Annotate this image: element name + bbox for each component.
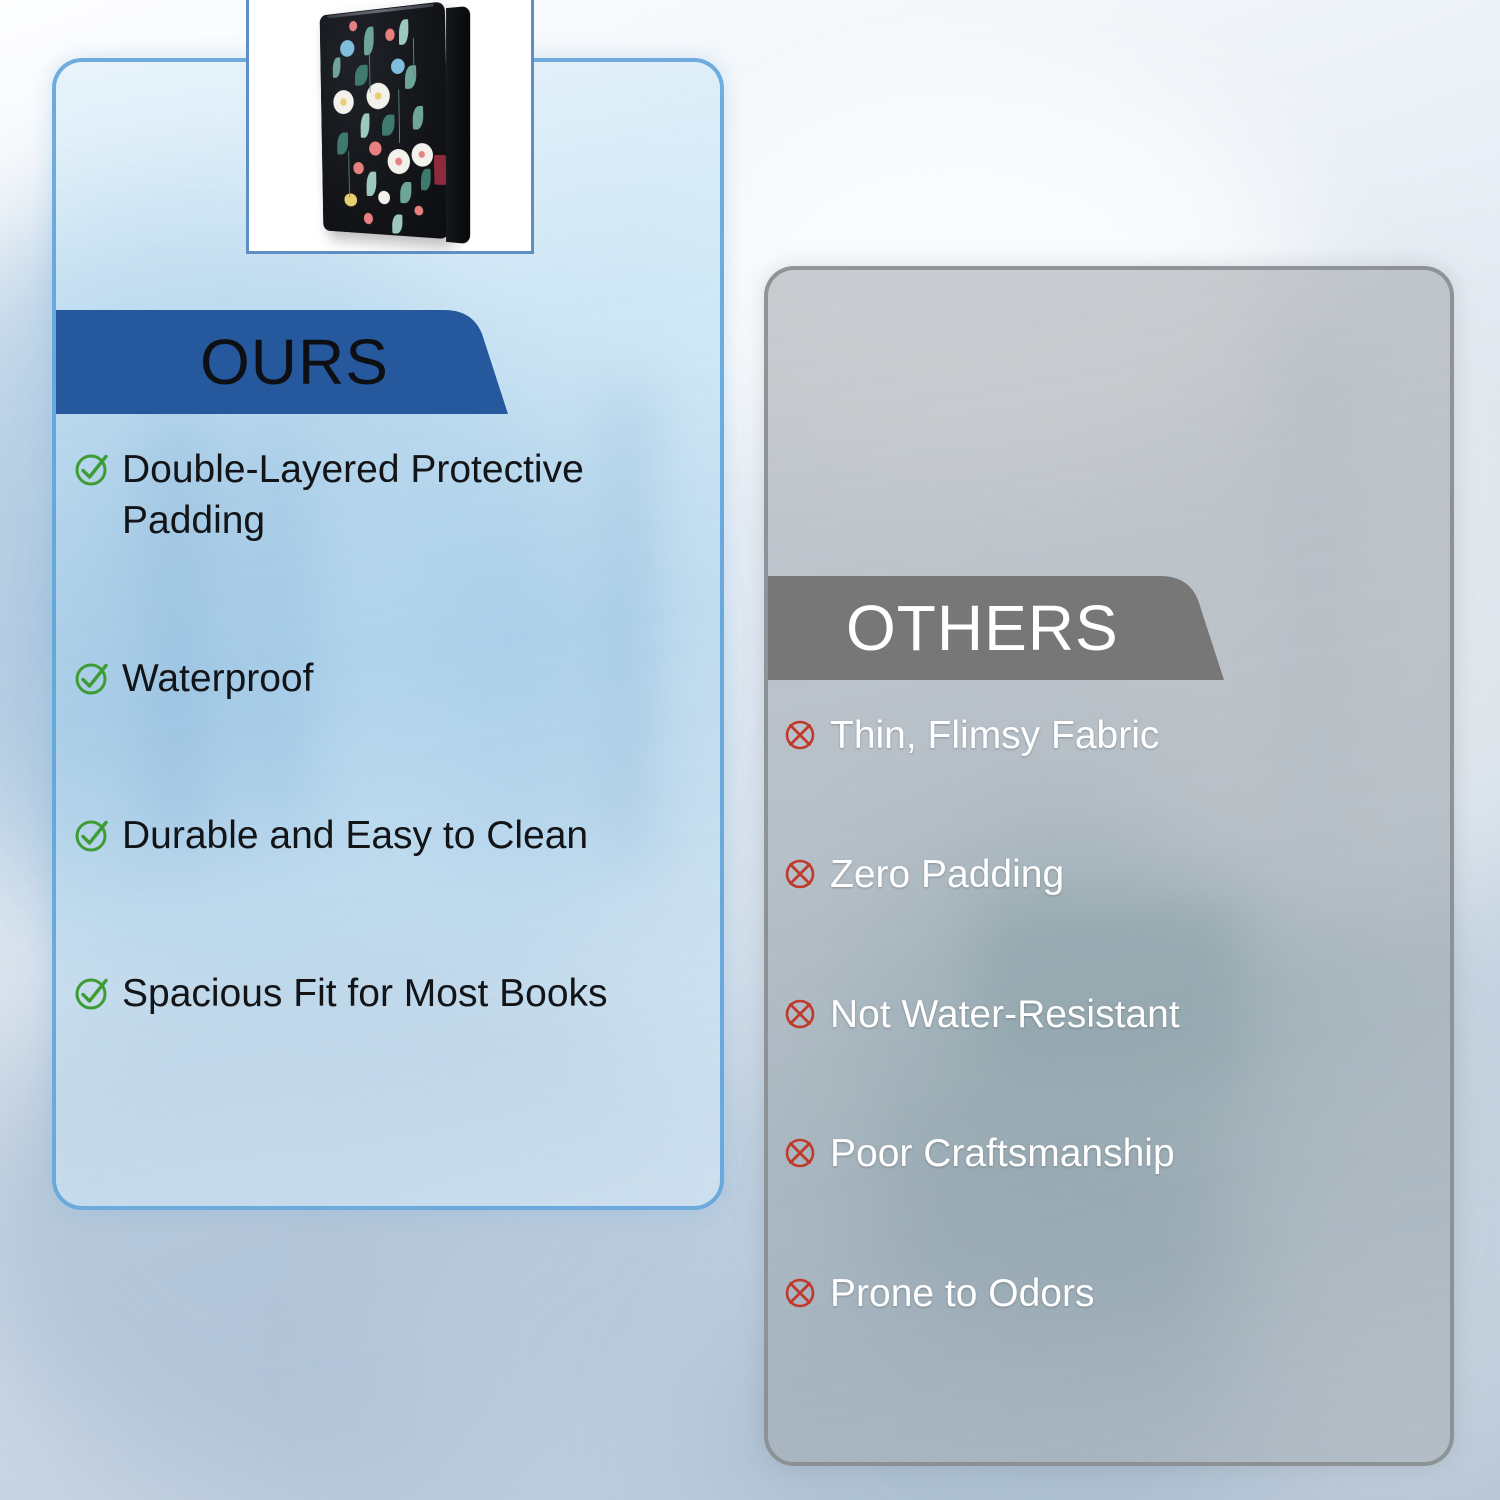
others-card: OTHERS Thin, Flimsy Fabric [764,266,1454,1466]
floral-leaf [400,182,412,204]
check-circle-icon [72,815,112,855]
cross-circle-icon [780,854,820,894]
floral-motif [385,28,395,41]
list-item-label: Thin, Flimsy Fabric [830,710,1159,761]
ours-feature-list: Double-Layered Protective Padding Waterp… [72,444,694,1019]
others-feature-list: Thin, Flimsy Fabric Zero Padding [780,710,1428,1319]
floral-leaf [405,65,417,89]
list-item: Durable and Easy to Clean [72,810,694,861]
list-item: Poor Craftsmanship [780,1128,1428,1179]
floral-leaf [333,57,341,78]
floral-motif [340,39,354,57]
floral-motif [344,193,357,207]
others-title: OTHERS [846,576,1119,680]
floral-leaf [360,113,369,138]
floral-leaf [337,132,348,154]
list-item: Spacious Fit for Most Books [72,968,694,1019]
list-item: Thin, Flimsy Fabric [780,710,1428,761]
floral-book-sleeve-graphic [320,1,450,239]
sleeve-zipper [327,3,434,18]
list-item: Not Water-Resistant [780,989,1428,1040]
floral-stem [348,151,350,197]
ours-banner: OURS [52,310,508,414]
floral-stem [369,51,371,92]
ours-title: OURS [200,310,389,414]
floral-leaf [392,214,403,234]
floral-leaf [355,65,368,86]
sleeve-brand-tab [434,155,446,185]
list-item: Prone to Odors [780,1268,1428,1319]
comparison-infographic: OURS Double-Layered Protective Padding [0,0,1500,1500]
list-item-label: Zero Padding [830,849,1064,900]
floral-stem [398,89,400,143]
check-circle-icon [72,658,112,698]
floral-motif [391,58,405,74]
floral-leaf [366,172,376,197]
floral-leaf [382,114,395,135]
others-banner: OTHERS [764,576,1224,680]
list-item-label: Poor Craftsmanship [830,1128,1175,1179]
floral-motif [353,162,364,174]
floral-leaf [421,169,431,191]
list-item-label: Waterproof [122,653,313,704]
floral-motif [419,151,425,158]
floral-motif [364,213,373,225]
floral-leaf [412,106,423,130]
list-item-label: Double-Layered Protective Padding [122,444,694,547]
floral-motif [395,158,402,166]
list-item-label: Durable and Easy to Clean [122,810,588,861]
list-item: Double-Layered Protective Padding [72,444,694,547]
cross-circle-icon [780,994,820,1034]
floral-motif [369,141,382,155]
list-item-label: Spacious Fit for Most Books [122,968,608,1019]
list-item-label: Not Water-Resistant [830,989,1180,1040]
list-item-label: Prone to Odors [830,1268,1094,1319]
floral-motif [349,21,357,32]
floral-motif [378,191,390,205]
check-circle-icon [72,449,112,489]
list-item: Zero Padding [780,849,1428,900]
floral-leaf [399,19,409,45]
list-item: Waterproof [72,653,694,704]
cross-circle-icon [780,715,820,755]
sleeve-spine [446,6,470,244]
product-image-frame [246,0,534,254]
product-image [249,0,531,251]
floral-stem [413,38,415,77]
check-circle-icon [72,973,112,1013]
cross-circle-icon [780,1273,820,1313]
cross-circle-icon [780,1133,820,1173]
floral-motif [414,206,423,216]
